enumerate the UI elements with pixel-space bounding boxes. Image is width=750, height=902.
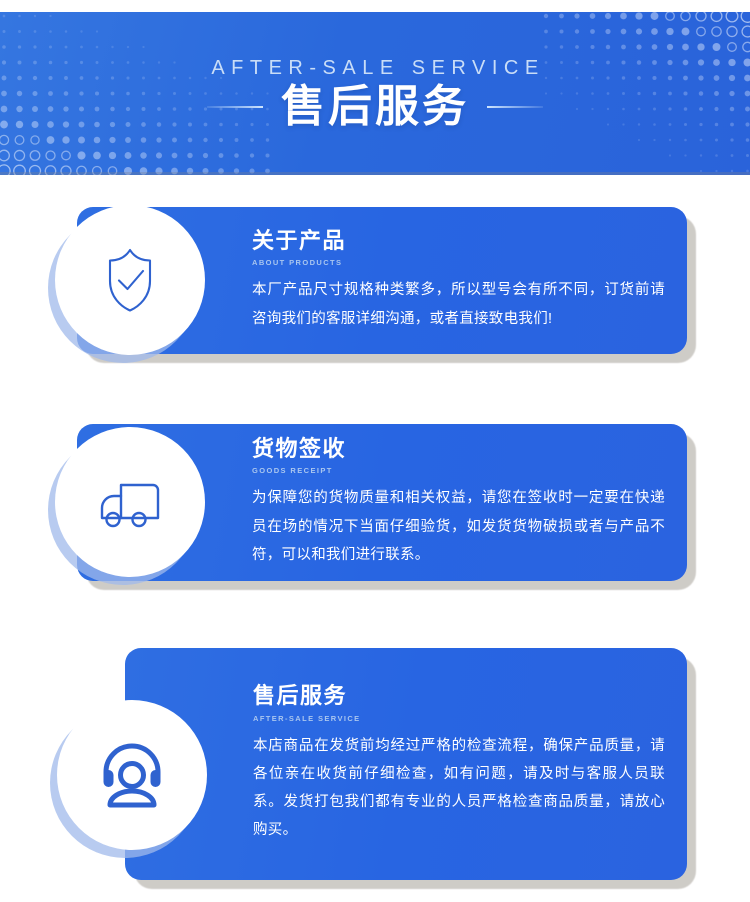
card-title: 关于产品 — [252, 228, 665, 254]
customer-service-headset-icon — [57, 700, 207, 850]
banner-title-row: 售后服务 — [207, 84, 543, 130]
card-description: 本厂产品尺寸规格种类繁多，所以型号会有所不同，订货前请咨询我们的客服详细沟通，或… — [252, 276, 665, 333]
info-card-after-sale-service: 售后服务 AFTER-SALE SERVICE 本店商品在发货前均经过严格的检查… — [125, 648, 687, 880]
info-card-about-products: 关于产品 ABOUT PRODUCTS 本厂产品尺寸规格种类繁多，所以型号会有所… — [77, 207, 687, 354]
card-subtitle: ABOUT PRODUCTS — [252, 258, 665, 267]
info-card-goods-receipt: 货物签收 GOODS RECEIPT 为保障您的货物质量和相关权益，请您在签收时… — [77, 424, 687, 581]
banner-text-block: AFTER-SALE SERVICE 售后服务 — [0, 12, 750, 175]
card-description: 本店商品在发货前均经过严格的检查流程，确保产品质量，请各位亲在收货前仔细检查，如… — [253, 732, 665, 845]
card-title: 货物签收 — [252, 436, 665, 462]
banner-bottom-edge — [0, 172, 750, 175]
card-content: 货物签收 GOODS RECEIPT 为保障您的货物质量和相关权益，请您在签收时… — [252, 424, 665, 581]
card-title: 售后服务 — [253, 683, 665, 709]
card-description: 为保障您的货物质量和相关权益，请您在签收时一定要在快递员在场的情况下当面仔细验货… — [252, 484, 665, 569]
card-subtitle: GOODS RECEIPT — [252, 466, 665, 475]
banner-rule-left — [207, 106, 263, 108]
banner-rule-right — [487, 106, 543, 108]
card-content: 关于产品 ABOUT PRODUCTS 本厂产品尺寸规格种类繁多，所以型号会有所… — [252, 207, 665, 354]
delivery-truck-icon — [55, 427, 205, 577]
banner-subtitle: AFTER-SALE SERVICE — [205, 57, 544, 80]
shield-check-icon — [55, 205, 205, 355]
card-content: 售后服务 AFTER-SALE SERVICE 本店商品在发货前均经过严格的检查… — [253, 648, 665, 880]
page-banner: AFTER-SALE SERVICE 售后服务 — [0, 12, 750, 175]
banner-title: 售后服务 — [281, 84, 469, 130]
card-subtitle: AFTER-SALE SERVICE — [253, 714, 665, 723]
